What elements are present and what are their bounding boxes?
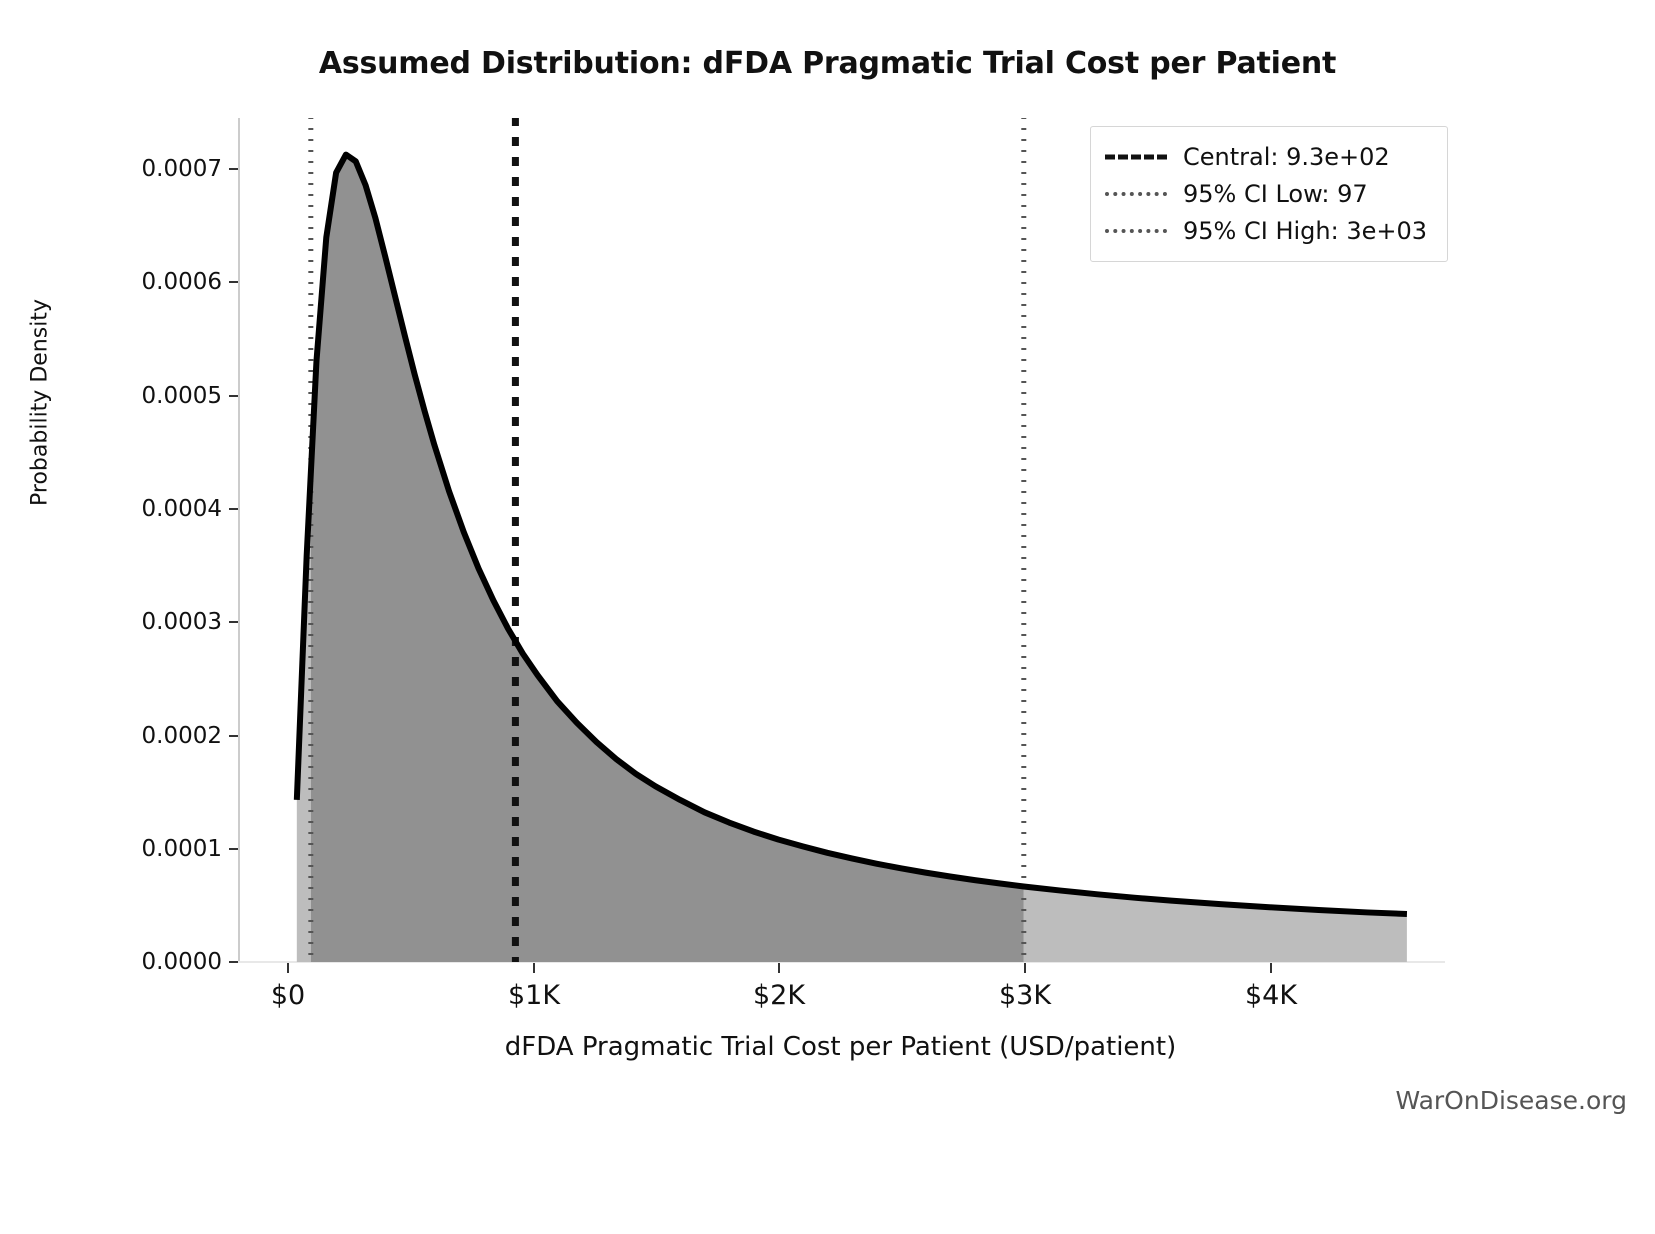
dotted-line-icon-high	[1105, 221, 1167, 241]
fill-within-95-ci	[297, 155, 1407, 962]
x-tick-mark-2	[778, 963, 780, 973]
y-tick-label-1: 0.0001	[142, 836, 222, 862]
x-tick-label-3: $3K	[965, 980, 1085, 1011]
y-tick-mark-6	[229, 281, 238, 283]
y-tick-label-4: 0.0004	[142, 496, 222, 522]
y-tick-mark-5	[229, 395, 238, 397]
legend-item-central: Central: 9.3e+02	[1105, 138, 1433, 175]
legend-item-ci-high: 95% CI High: 3e+03	[1105, 212, 1433, 249]
y-tick-label-0: 0.0000	[142, 949, 222, 975]
y-axis-label: Probability Density	[28, 253, 53, 553]
x-tick-mark-0	[287, 963, 289, 973]
x-tick-label-2: $2K	[719, 980, 839, 1011]
y-tick-label-2: 0.0002	[142, 723, 222, 749]
figure-canvas: Assumed Distribution: dFDA Pragmatic Tri…	[0, 0, 1655, 1234]
x-tick-label-1: $1K	[474, 980, 594, 1011]
x-tick-mark-1	[533, 963, 535, 973]
x-tick-mark-3	[1024, 963, 1026, 973]
legend-item-ci-low: 95% CI Low: 97	[1105, 175, 1433, 212]
x-tick-label-4: $4K	[1211, 980, 1331, 1011]
x-axis-label: dFDA Pragmatic Trial Cost per Patient (U…	[238, 1032, 1443, 1062]
legend-label-ci-high: 95% CI High: 3e+03	[1183, 217, 1427, 245]
y-tick-mark-3	[229, 621, 238, 623]
y-tick-label-3: 0.0003	[142, 609, 222, 635]
x-tick-label-0: $0	[228, 980, 348, 1011]
y-tick-mark-0	[229, 961, 238, 963]
watermark: WarOnDisease.org	[1395, 1086, 1627, 1115]
y-tick-label-6: 0.0006	[142, 269, 222, 295]
page-title: Assumed Distribution: dFDA Pragmatic Tri…	[0, 46, 1655, 81]
y-tick-mark-2	[229, 735, 238, 737]
dashed-line-icon	[1105, 147, 1167, 167]
y-tick-mark-7	[229, 168, 238, 170]
x-tick-mark-4	[1270, 963, 1272, 973]
legend-label-central: Central: 9.3e+02	[1183, 143, 1390, 171]
y-tick-label-7: 0.0007	[142, 156, 222, 182]
y-tick-mark-1	[229, 848, 238, 850]
y-tick-label-5: 0.0005	[142, 383, 222, 409]
legend: Central: 9.3e+02 95% CI Low: 97 95% CI H…	[1090, 126, 1448, 262]
legend-label-ci-low: 95% CI Low: 97	[1183, 180, 1368, 208]
dotted-line-icon-low	[1105, 184, 1167, 204]
y-tick-mark-4	[229, 508, 238, 510]
